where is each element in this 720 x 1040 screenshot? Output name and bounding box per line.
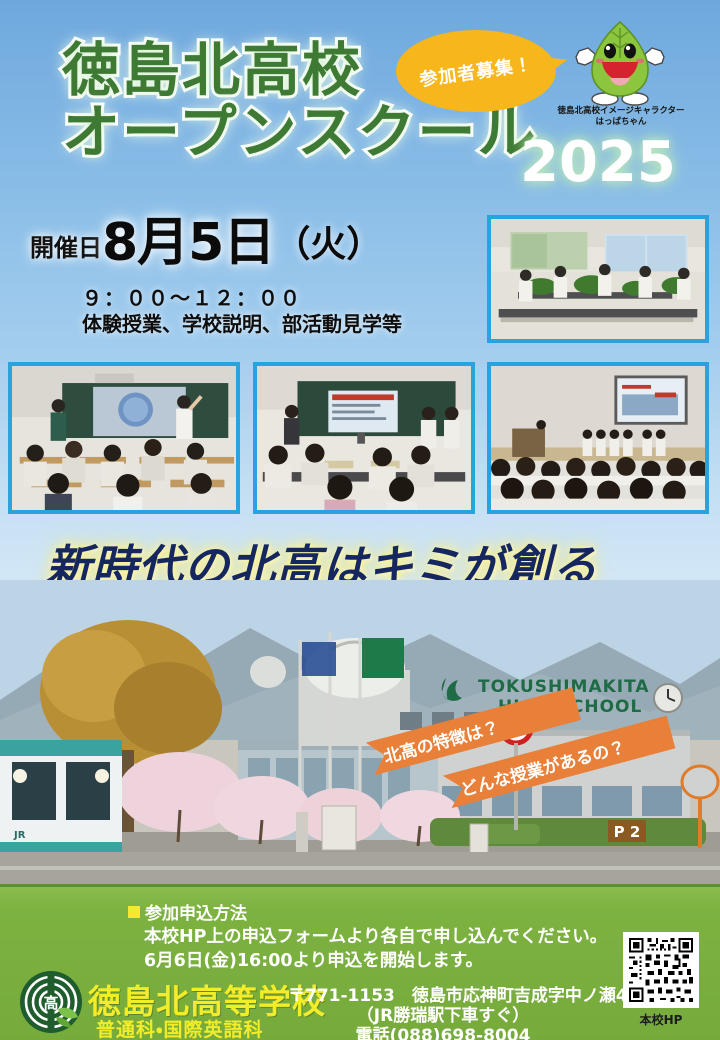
- apply-instruction-1: 本校HP上の申込フォームより各自で申し込んでください。: [144, 923, 607, 948]
- school-phone: 電話(088)698-8004: [288, 1021, 598, 1040]
- svg-text:高: 高: [43, 994, 58, 1012]
- poster-root: 徳島北高校 オープンスクール 2025 参加者募集！: [0, 0, 720, 1040]
- apply-heading-text: 参加申込方法: [145, 899, 247, 924]
- mascot-caption-line1: 徳島北高校イメージキャラクター: [545, 106, 697, 117]
- mascot-leaf-icon: [572, 18, 668, 108]
- qr-code[interactable]: [623, 932, 699, 1008]
- event-date-row: 開催日 8月5日 （火）: [30, 215, 382, 271]
- svg-text:JR: JR: [13, 830, 26, 841]
- recruit-bubble-text: 参加者募集！: [418, 50, 535, 92]
- qr-caption: 本校HP: [623, 1011, 699, 1028]
- apply-instruction-2: 6月6日(金)16:00より申込を開始します。: [144, 947, 483, 972]
- page-title-line1: 徳島北高校: [62, 38, 362, 102]
- date-weekday: （火）: [274, 215, 382, 271]
- photo-class-2: [253, 362, 475, 514]
- svg-text:P 2: P 2: [614, 823, 641, 841]
- bullet-square-icon: [128, 906, 140, 918]
- school-emblem-icon: 高: [18, 969, 84, 1035]
- photo-class-1: [8, 362, 240, 514]
- date-label: 開催日: [30, 228, 102, 271]
- photo-lab: [487, 215, 709, 343]
- event-time: ９：００〜１２：００: [82, 282, 302, 311]
- mascot-caption: 徳島北高校イメージキャラクター はっぱちゃん: [545, 106, 697, 128]
- event-contents: 体験授業、学校説明、部活動見学等: [82, 308, 402, 337]
- date-value: 8月5日: [102, 215, 274, 271]
- apply-heading: 参加申込方法: [128, 899, 247, 924]
- photo-assembly: [487, 362, 709, 514]
- school-departments: 普通科・国際英語科: [96, 1015, 263, 1040]
- footer-bar: 参加申込方法 本校HP上の申込フォームより各自で申し込んでください。 6月6日(…: [0, 884, 720, 1040]
- recruit-speech-bubble: 参加者募集！: [396, 30, 556, 112]
- mascot-caption-line2: はっぱちゃん: [545, 117, 697, 128]
- year-label: 2025: [520, 130, 676, 195]
